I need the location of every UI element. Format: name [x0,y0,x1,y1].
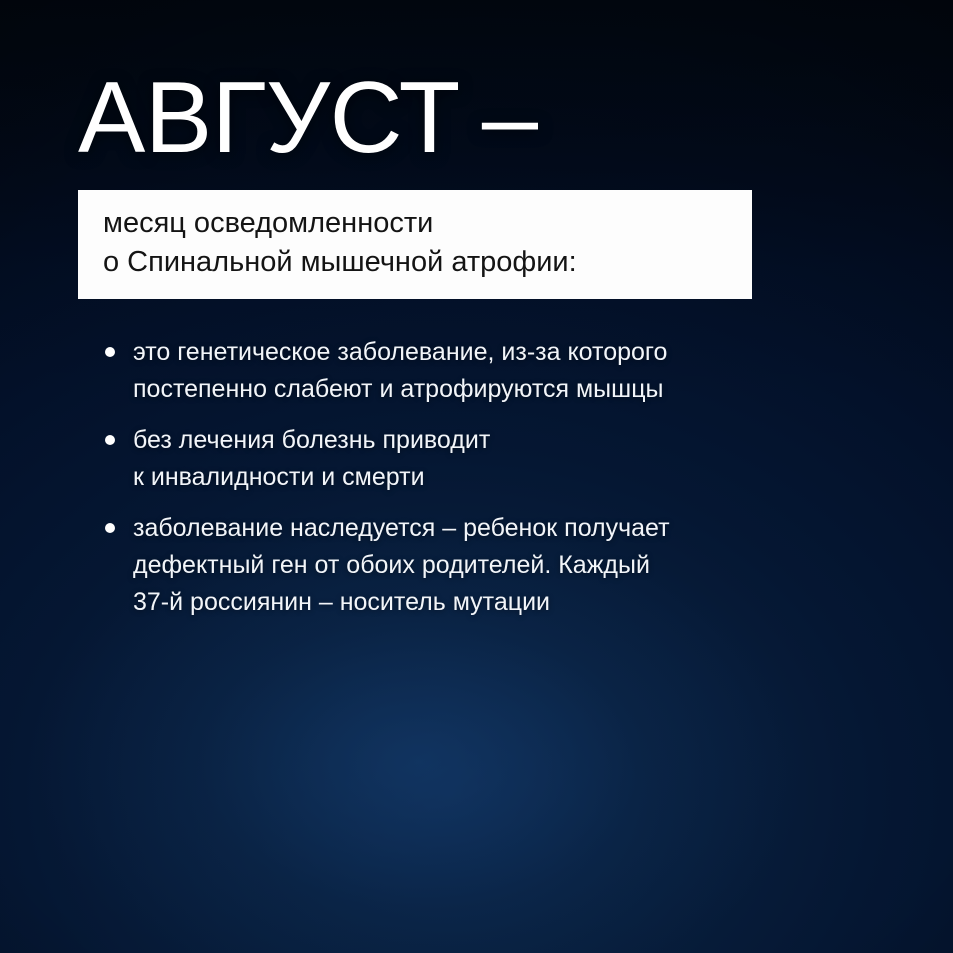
list-item-line: дефектный ген от обоих родителей. Каждый [133,547,895,584]
list-item-line: 37-й россиянин – носитель мутации [133,584,895,621]
list-item: заболевание наследуется – ребенок получа… [105,510,895,621]
poster-canvas: АВГУСТ– месяц осведомленности о Спинальн… [0,0,953,953]
highlight-line-2: о Спинальной мышечной атрофии: [103,243,752,282]
poster-content: АВГУСТ– месяц осведомленности о Спинальн… [0,0,953,953]
highlight-line-1: месяц осведомленности [103,204,752,243]
list-item-line: это генетическое заболевание, из-за кото… [133,334,895,371]
bullet-dot-icon [105,523,115,533]
list-item-line: постепенно слабеют и атрофируются мышцы [133,371,895,408]
list-item-line: заболевание наследуется – ребенок получа… [133,510,895,547]
page-title: АВГУСТ– [78,66,878,170]
page-title-dash: – [460,62,538,174]
highlight-box: месяц осведомленности о Спинальной мышеч… [78,190,752,299]
list-item: это генетическое заболевание, из-за кото… [105,334,895,408]
list-item: без лечения болезнь приводит к инвалидно… [105,422,895,496]
bullet-dot-icon [105,347,115,357]
list-item-line: без лечения болезнь приводит [133,422,895,459]
list-item-line: к инвалидности и смерти [133,459,895,496]
fact-list: это генетическое заболевание, из-за кото… [105,334,895,621]
page-title-word: АВГУСТ [78,62,460,174]
bullet-dot-icon [105,435,115,445]
